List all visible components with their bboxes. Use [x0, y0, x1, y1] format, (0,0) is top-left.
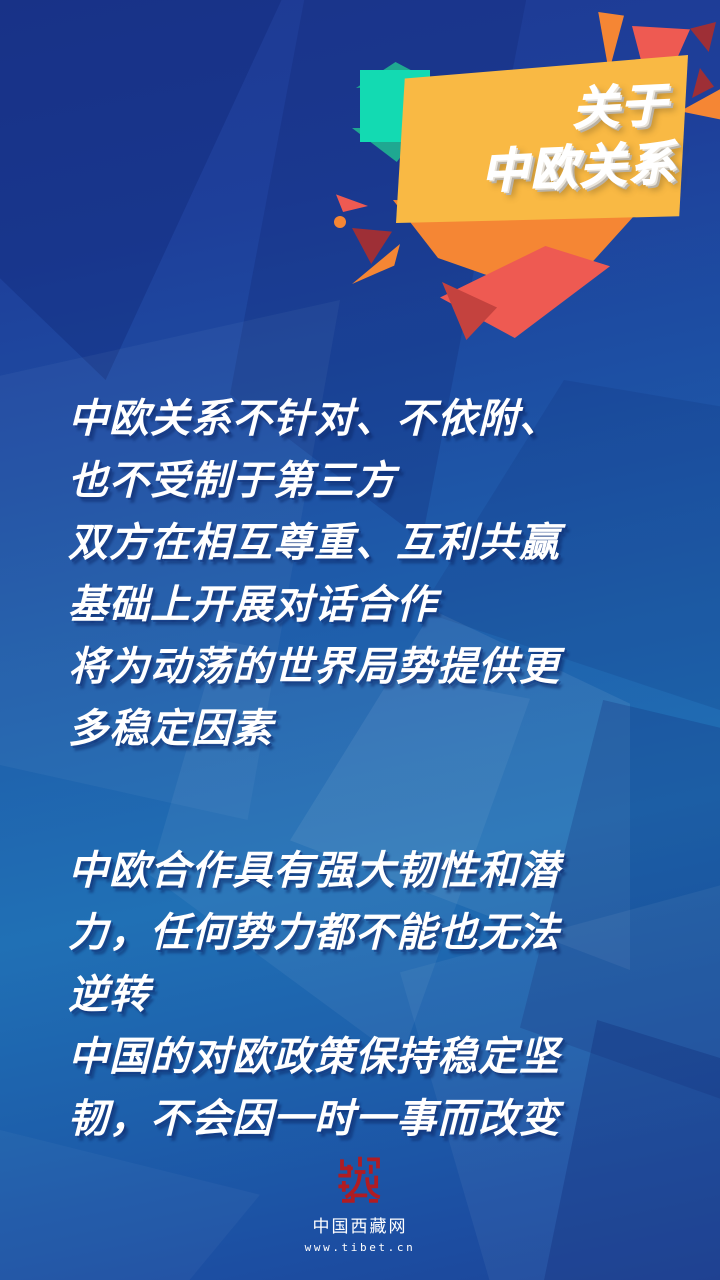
dark-red-triangle-icon	[692, 68, 714, 98]
body-line: 逆转	[68, 964, 668, 1026]
body-line: 中欧合作具有强大韧性和潜	[68, 840, 668, 902]
title-line-2: 中欧关系	[410, 134, 680, 206]
poster-title: 关于 中欧关系	[407, 74, 681, 218]
body-line: 中欧关系不针对、不依附、	[68, 388, 668, 450]
orange-dot-icon	[334, 216, 346, 228]
body-line: 双方在相互尊重、互利共赢	[68, 512, 668, 574]
site-name: 中国西藏网	[0, 1216, 720, 1238]
paragraph-two: 中欧合作具有强大韧性和潜 力，任何势力都不能也无法 逆转 中国的对欧政策保持稳定…	[68, 840, 668, 1150]
paragraph-one: 中欧关系不针对、不依附、 也不受制于第三方 双方在相互尊重、互利共赢 基础上开展…	[68, 388, 668, 760]
body-line: 中国的对欧政策保持稳定坚	[68, 1026, 668, 1088]
body-line: 多稳定因素	[68, 698, 668, 760]
body-line: 力，任何势力都不能也无法	[68, 902, 668, 964]
site-url: www.tibet.cn	[0, 1240, 720, 1256]
body-line: 基础上开展对话合作	[68, 574, 668, 636]
footer: 中国西藏网 www.tibet.cn	[0, 1154, 720, 1256]
body-line: 韧，不会因一时一事而改变	[68, 1088, 668, 1150]
tibet-seal-logo-icon	[333, 1154, 387, 1208]
poster-canvas: 关于 中欧关系 中欧关系不针对、不依附、 也不受制于第三方 双方在相互尊重、互利…	[0, 0, 720, 1280]
body-line: 将为动荡的世界局势提供更	[68, 636, 668, 698]
dark-red-triangle-icon	[690, 22, 716, 52]
body-line: 也不受制于第三方	[68, 450, 668, 512]
